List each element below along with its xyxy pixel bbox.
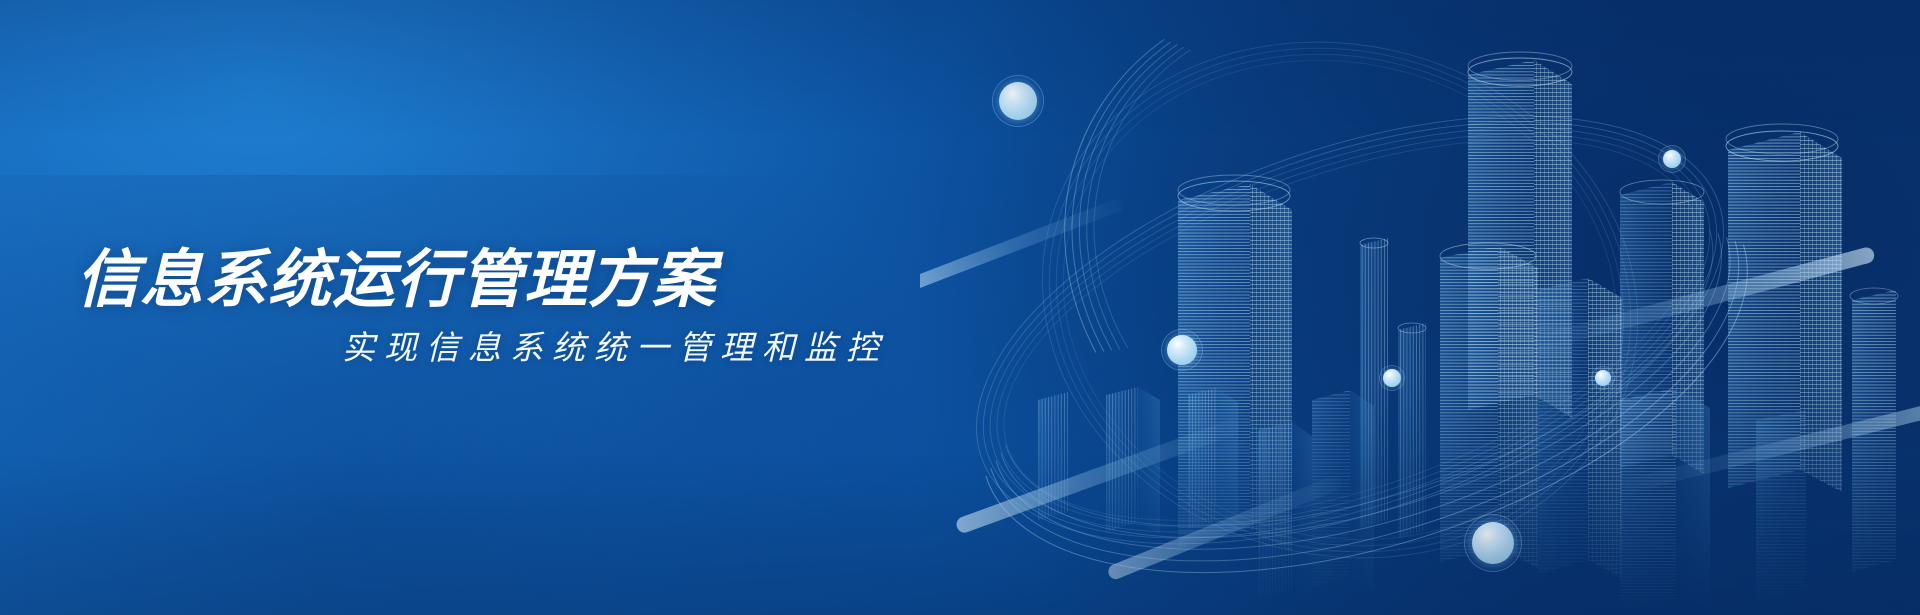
banner-text-block: 信息系统运行管理方案 实现信息系统统一管理和监控 <box>0 0 1000 615</box>
hero-banner: 信息系统运行管理方案 实现信息系统统一管理和监控 <box>0 0 1920 615</box>
banner-headline: 信息系统运行管理方案 <box>76 247 1000 314</box>
banner-subline: 实现信息系统统一管理和监控 <box>76 328 888 368</box>
